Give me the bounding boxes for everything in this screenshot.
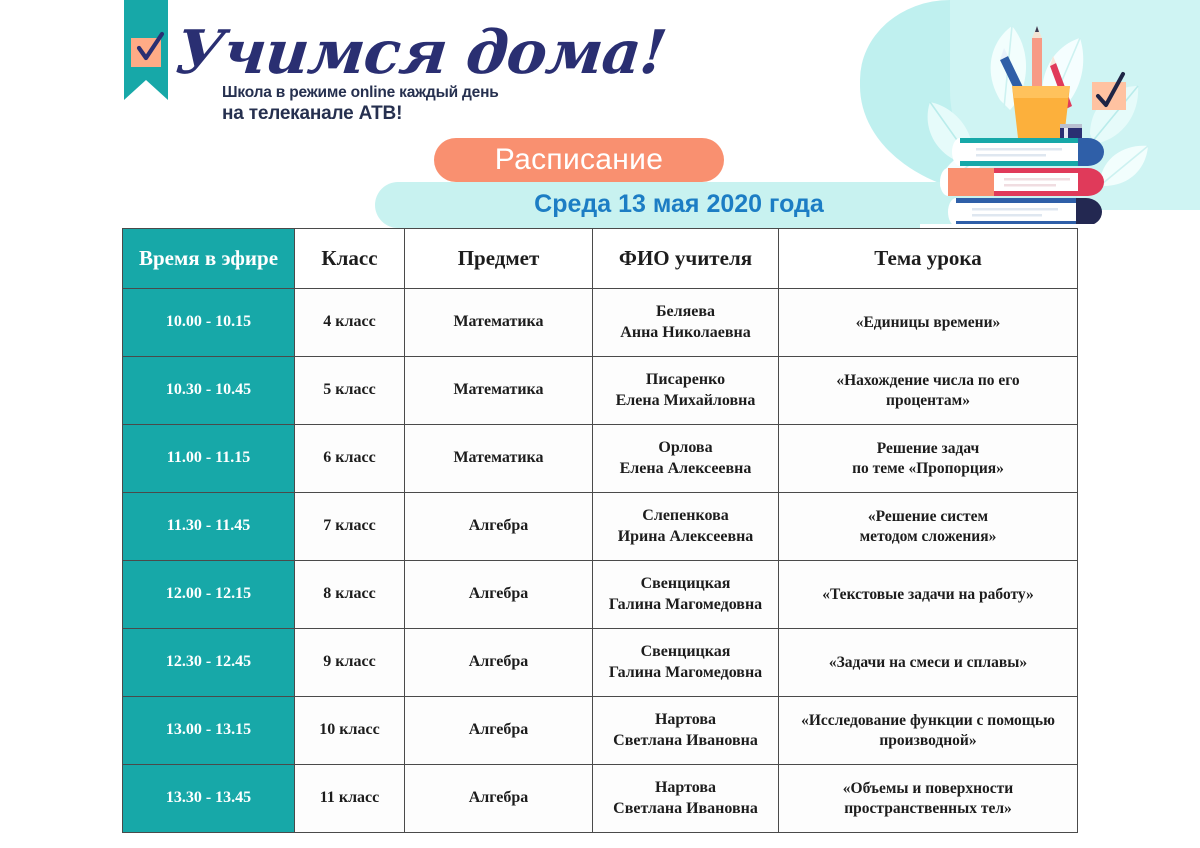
cell-subject: Алгебра xyxy=(405,697,593,765)
cell-teacher-line: Слепенкова xyxy=(600,506,771,526)
column-header-subject: Предмет xyxy=(405,229,593,289)
cell-teacher: НартоваСветлана Ивановна xyxy=(593,697,779,765)
header-area: Учимся дома! Школа в режиме online кажды… xyxy=(0,0,1200,228)
cell-subject: Математика xyxy=(405,425,593,493)
cell-teacher-line: Орлова xyxy=(600,438,771,458)
table-row: 10.30 - 10.455 классМатематикаПисаренкоЕ… xyxy=(123,357,1078,425)
cell-topic-line: Решение задач xyxy=(786,439,1070,459)
cell-grade: 7 класс xyxy=(295,493,405,561)
cell-topic: «Задачи на смеси и сплавы» xyxy=(779,629,1078,697)
cell-time: 13.30 - 13.45 xyxy=(123,765,295,833)
cell-teacher: ПисаренкоЕлена Михайловна xyxy=(593,357,779,425)
table-row: 13.00 - 13.1510 классАлгебраНартоваСветл… xyxy=(123,697,1078,765)
cell-teacher-line: Светлана Ивановна xyxy=(600,799,771,819)
cell-topic: «Единицы времени» xyxy=(779,289,1078,357)
cell-time: 10.00 - 10.15 xyxy=(123,289,295,357)
column-header-grade: Класс xyxy=(295,229,405,289)
cell-teacher-line: Анна Николаевна xyxy=(600,323,771,343)
cell-grade: 11 класс xyxy=(295,765,405,833)
table-row: 11.00 - 11.156 классМатематикаОрловаЕлен… xyxy=(123,425,1078,493)
cell-topic-line: производной» xyxy=(786,731,1070,751)
cell-grade: 10 класс xyxy=(295,697,405,765)
cell-teacher-line: Галина Магомедовна xyxy=(600,595,771,615)
cell-topic: «Объемы и поверхностипространственных те… xyxy=(779,765,1078,833)
cell-topic-line: «Нахождение числа по его xyxy=(786,371,1070,391)
cell-grade: 5 класс xyxy=(295,357,405,425)
cell-topic-line: «Задачи на смеси и сплавы» xyxy=(786,653,1070,673)
cell-topic: «Исследование функции с помощьюпроизводн… xyxy=(779,697,1078,765)
cell-topic: «Текстовые задачи на работу» xyxy=(779,561,1078,629)
cell-grade: 8 класс xyxy=(295,561,405,629)
cell-topic-line: «Решение систем xyxy=(786,507,1070,527)
cell-teacher-line: Елена Алексеевна xyxy=(600,459,771,479)
cell-topic-line: «Исследование функции с помощью xyxy=(786,711,1070,731)
column-header-topic: Тема урока xyxy=(779,229,1078,289)
cell-grade: 4 класс xyxy=(295,289,405,357)
cell-teacher-line: Беляева xyxy=(600,302,771,322)
cell-time: 11.30 - 11.45 xyxy=(123,493,295,561)
cell-teacher: СвенцицкаяГалина Магомедовна xyxy=(593,629,779,697)
cell-teacher: БеляеваАнна Николаевна xyxy=(593,289,779,357)
column-header-teacher: ФИО учителя xyxy=(593,229,779,289)
cell-teacher-line: Писаренко xyxy=(600,370,771,390)
cell-topic-line: по теме «Пропорция» xyxy=(786,459,1070,479)
table-header-row: Время в эфире Класс Предмет ФИО учителя … xyxy=(123,229,1078,289)
column-header-time: Время в эфире xyxy=(123,229,295,289)
cell-grade: 9 класс xyxy=(295,629,405,697)
cell-teacher-line: Елена Михайловна xyxy=(600,391,771,411)
schedule-table: Время в эфире Класс Предмет ФИО учителя … xyxy=(122,228,1078,833)
cell-teacher-line: Свенцицкая xyxy=(600,642,771,662)
cell-subject: Алгебра xyxy=(405,493,593,561)
cell-teacher-line: Нартова xyxy=(600,778,771,798)
cell-topic: Решение задачпо теме «Пропорция» xyxy=(779,425,1078,493)
cell-subject: Математика xyxy=(405,289,593,357)
cell-teacher-line: Галина Магомедовна xyxy=(600,663,771,683)
cell-topic-line: методом сложения» xyxy=(786,527,1070,547)
cell-subject: Алгебра xyxy=(405,561,593,629)
brand-subtitle-line1: Школа в режиме online каждый день xyxy=(222,84,499,102)
cell-subject: Математика xyxy=(405,357,593,425)
cell-topic-line: «Текстовые задачи на работу» xyxy=(786,585,1070,605)
cell-topic-line: пространственных тел» xyxy=(786,799,1070,819)
cell-teacher-line: Ирина Алексеевна xyxy=(600,527,771,547)
cell-time: 10.30 - 10.45 xyxy=(123,357,295,425)
schedule-title-text: Расписание xyxy=(495,145,663,175)
table-row: 13.30 - 13.4511 классАлгебраНартоваСветл… xyxy=(123,765,1078,833)
cell-teacher-line: Нартова xyxy=(600,710,771,730)
cell-teacher: СвенцицкаяГалина Магомедовна xyxy=(593,561,779,629)
cell-time: 12.30 - 12.45 xyxy=(123,629,295,697)
schedule-date-text: Среда 13 мая 2020 года xyxy=(375,190,983,219)
table-row: 12.00 - 12.158 классАлгебраСвенцицкаяГал… xyxy=(123,561,1078,629)
cell-teacher-line: Свенцицкая xyxy=(600,574,771,594)
brand-script-title: Учимся дома! xyxy=(172,18,669,88)
book-stack-icon xyxy=(940,138,1104,226)
cell-topic-line: «Единицы времени» xyxy=(786,313,1070,333)
cell-topic: «Нахождение числа по егопроцентам» xyxy=(779,357,1078,425)
cell-topic: «Решение системметодом сложения» xyxy=(779,493,1078,561)
cell-teacher: СлепенковаИрина Алексеевна xyxy=(593,493,779,561)
cell-teacher: ОрловаЕлена Алексеевна xyxy=(593,425,779,493)
cell-subject: Алгебра xyxy=(405,629,593,697)
cell-teacher: НартоваСветлана Ивановна xyxy=(593,765,779,833)
checkmark-note-icon xyxy=(1092,74,1126,110)
schedule-title-pill: Расписание xyxy=(434,138,724,182)
cell-time: 12.00 - 12.15 xyxy=(123,561,295,629)
bookmark-check-icon xyxy=(133,30,167,70)
cell-teacher-line: Светлана Ивановна xyxy=(600,731,771,751)
table-row: 10.00 - 10.154 классМатематикаБеляеваАнн… xyxy=(123,289,1078,357)
cell-topic-line: «Объемы и поверхности xyxy=(786,779,1070,799)
cell-topic-line: процентам» xyxy=(786,391,1070,411)
cell-time: 11.00 - 11.15 xyxy=(123,425,295,493)
cell-time: 13.00 - 13.15 xyxy=(123,697,295,765)
cell-grade: 6 класс xyxy=(295,425,405,493)
brand-subtitle-line2: на телеканале АТВ! xyxy=(222,103,402,125)
table-row: 11.30 - 11.457 классАлгебраСлепенковаИри… xyxy=(123,493,1078,561)
table-row: 12.30 - 12.459 классАлгебраСвенцицкаяГал… xyxy=(123,629,1078,697)
cell-subject: Алгебра xyxy=(405,765,593,833)
books-stack-illustration xyxy=(904,14,1172,228)
